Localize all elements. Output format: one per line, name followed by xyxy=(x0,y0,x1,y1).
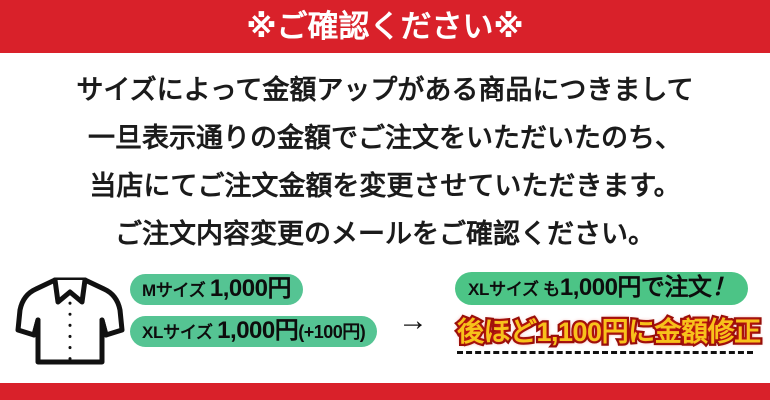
price-badge-xl: XLサイズ 1,000円(+100円) xyxy=(130,316,377,347)
correction-text: 後ほど1,100円に金額修正 xyxy=(457,317,761,347)
notice-line-3: 当店にてご注文金額を変更させていただきます。 xyxy=(0,162,770,210)
exclamation-mark: ！ xyxy=(711,274,735,301)
notice-banner: ※ご確認ください※ サイズによって金額アップがある商品につきまして 一旦表示通り… xyxy=(0,0,770,400)
notice-body: サイズによって金額アップがある商品につきまして 一旦表示通りの金額でご注文をいた… xyxy=(0,66,770,258)
arrow-right-icon: → xyxy=(398,306,428,336)
page-title: ※ご確認ください※ xyxy=(246,11,523,42)
size-label-xl: XLサイズ xyxy=(142,323,213,342)
footer-bar xyxy=(0,383,770,400)
notice-line-4: ご注文内容変更のメールをご確認ください。 xyxy=(0,210,770,258)
notice-line-1: サイズによって金額アップがある商品につきまして xyxy=(0,66,770,114)
header-bar: ※ご確認ください※ xyxy=(0,0,770,53)
price-comparison: Mサイズ 1,000円 XLサイズ 1,000円(+100円) → XLサイズ … xyxy=(0,266,770,378)
before-prices: Mサイズ 1,000円 XLサイズ 1,000円(+100円) xyxy=(130,274,388,347)
dress-shirt-icon xyxy=(14,272,126,370)
price-extra-xl: (+100円) xyxy=(298,322,365,342)
price-value-xl: 1,000円 xyxy=(217,317,298,344)
dashed-underline xyxy=(457,351,753,354)
price-prefix-xl-ordered: も xyxy=(543,280,560,299)
price-value-m: 1,000円 xyxy=(210,275,291,302)
size-label-xl-ordered: XLサイズ xyxy=(468,280,539,299)
price-value-xl-ordered: 1,000円で注文 xyxy=(560,274,712,301)
size-label-m: Mサイズ xyxy=(142,281,205,300)
correction-notice: 後ほど1,100円に金額修正 xyxy=(455,317,763,354)
price-badge-xl-ordered: XLサイズ も1,000円で注文！ xyxy=(455,272,748,305)
after-prices: XLサイズ も1,000円で注文！ 後ほど1,100円に金額修正 xyxy=(455,272,755,354)
notice-line-2: 一旦表示通りの金額でご注文をいただいたのち、 xyxy=(0,114,770,162)
price-badge-m: Mサイズ 1,000円 xyxy=(130,274,303,305)
